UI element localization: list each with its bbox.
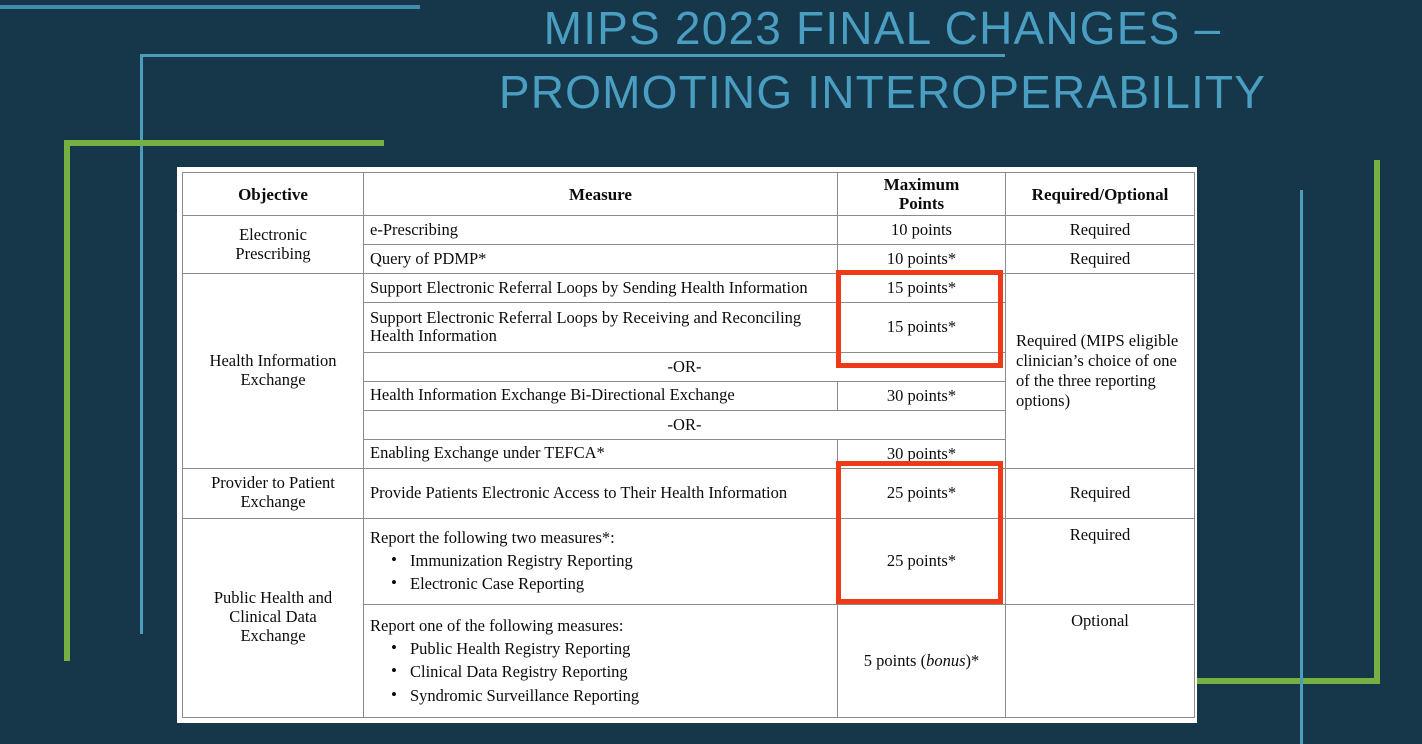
cell-points-bonus: 5 points (bonus)* (838, 604, 1006, 717)
cell-measure: Report the following two measures*: Immu… (364, 518, 838, 604)
header-required-optional: Required/Optional (1006, 173, 1195, 216)
cell-required: Required (1006, 216, 1195, 245)
decorative-green-line-vertical-left (64, 140, 70, 661)
bonus-points-text: 5 points (bonus)* (864, 651, 980, 670)
cell-measure: e-Prescribing (364, 216, 838, 245)
cell-measure: Support Electronic Referral Loops by Rec… (364, 303, 838, 353)
cell-objective: Public Health and Clinical Data Exchange (183, 518, 364, 717)
measure-lead-text: Report one of the following measures: (370, 615, 831, 637)
list-item: Syndromic Surveillance Reporting (410, 684, 831, 707)
cell-points: 10 points* (838, 245, 1006, 274)
table-row: Public Health and Clinical Data Exchange… (183, 518, 1195, 604)
header-objective: Objective (183, 173, 364, 216)
cell-required: Required (1006, 518, 1195, 604)
table-row: Provider to Patient Exchange Provide Pat… (183, 468, 1195, 518)
cell-required: Optional (1006, 604, 1195, 717)
decorative-green-line-horizontal-bottom (1195, 678, 1380, 684)
table-row: Electronic Prescribing e-Prescribing 10 … (183, 216, 1195, 245)
slide-title: MIPS 2023 FINAL CHANGES – PROMOTING INTE… (430, 0, 1335, 124)
cell-points: 25 points* (838, 518, 1006, 604)
table-row: Health Information Exchange Support Elec… (183, 274, 1195, 303)
cell-measure: Query of PDMP* (364, 245, 838, 274)
table-header-row: Objective Measure Maximum Points Require… (183, 173, 1195, 216)
decorative-teal-line-vertical-right (1300, 190, 1303, 744)
cell-required: Required (1006, 468, 1195, 518)
cell-or-separator: -OR- (364, 410, 1006, 439)
cell-objective: Electronic Prescribing (183, 216, 364, 274)
cell-points: 25 points* (838, 468, 1006, 518)
cell-required: Required (1006, 245, 1195, 274)
decorative-green-line-vertical-right (1374, 160, 1380, 684)
cell-or-separator: -OR- (364, 352, 1006, 381)
promoting-interoperability-table-frame: Objective Measure Maximum Points Require… (177, 167, 1197, 723)
cell-points: 30 points* (838, 439, 1006, 468)
cell-points: 15 points* (838, 274, 1006, 303)
cell-points: 10 points (838, 216, 1006, 245)
cell-measure: Enabling Exchange under TEFCA* (364, 439, 838, 468)
cell-measure: Health Information Exchange Bi-Direction… (364, 381, 838, 410)
measure-lead-text: Report the following two measures*: (370, 527, 831, 549)
cell-objective: Health Information Exchange (183, 274, 364, 469)
cell-measure: Provide Patients Electronic Access to Th… (364, 468, 838, 518)
cell-points: 30 points* (838, 381, 1006, 410)
cell-measure: Report one of the following measures: Pu… (364, 604, 838, 717)
decorative-green-line-horizontal-top (64, 140, 384, 146)
cell-points: 15 points* (838, 303, 1006, 353)
cell-measure: Support Electronic Referral Loops by Sen… (364, 274, 838, 303)
cell-objective: Provider to Patient Exchange (183, 468, 364, 518)
promoting-interoperability-table: Objective Measure Maximum Points Require… (182, 172, 1195, 718)
decorative-teal-line-top (0, 5, 420, 9)
measure-bullet-list: Immunization Registry Reporting Electron… (370, 549, 831, 596)
list-item: Public Health Registry Reporting (410, 637, 831, 660)
cell-required: Required (MIPS eligible clinician’s choi… (1006, 274, 1195, 469)
list-item: Immunization Registry Reporting (410, 549, 831, 572)
header-maximum-points: Maximum Points (838, 173, 1006, 216)
list-item: Electronic Case Reporting (410, 572, 831, 595)
list-item: Clinical Data Registry Reporting (410, 660, 831, 683)
header-measure: Measure (364, 173, 838, 216)
measure-bullet-list: Public Health Registry Reporting Clinica… (370, 637, 831, 707)
